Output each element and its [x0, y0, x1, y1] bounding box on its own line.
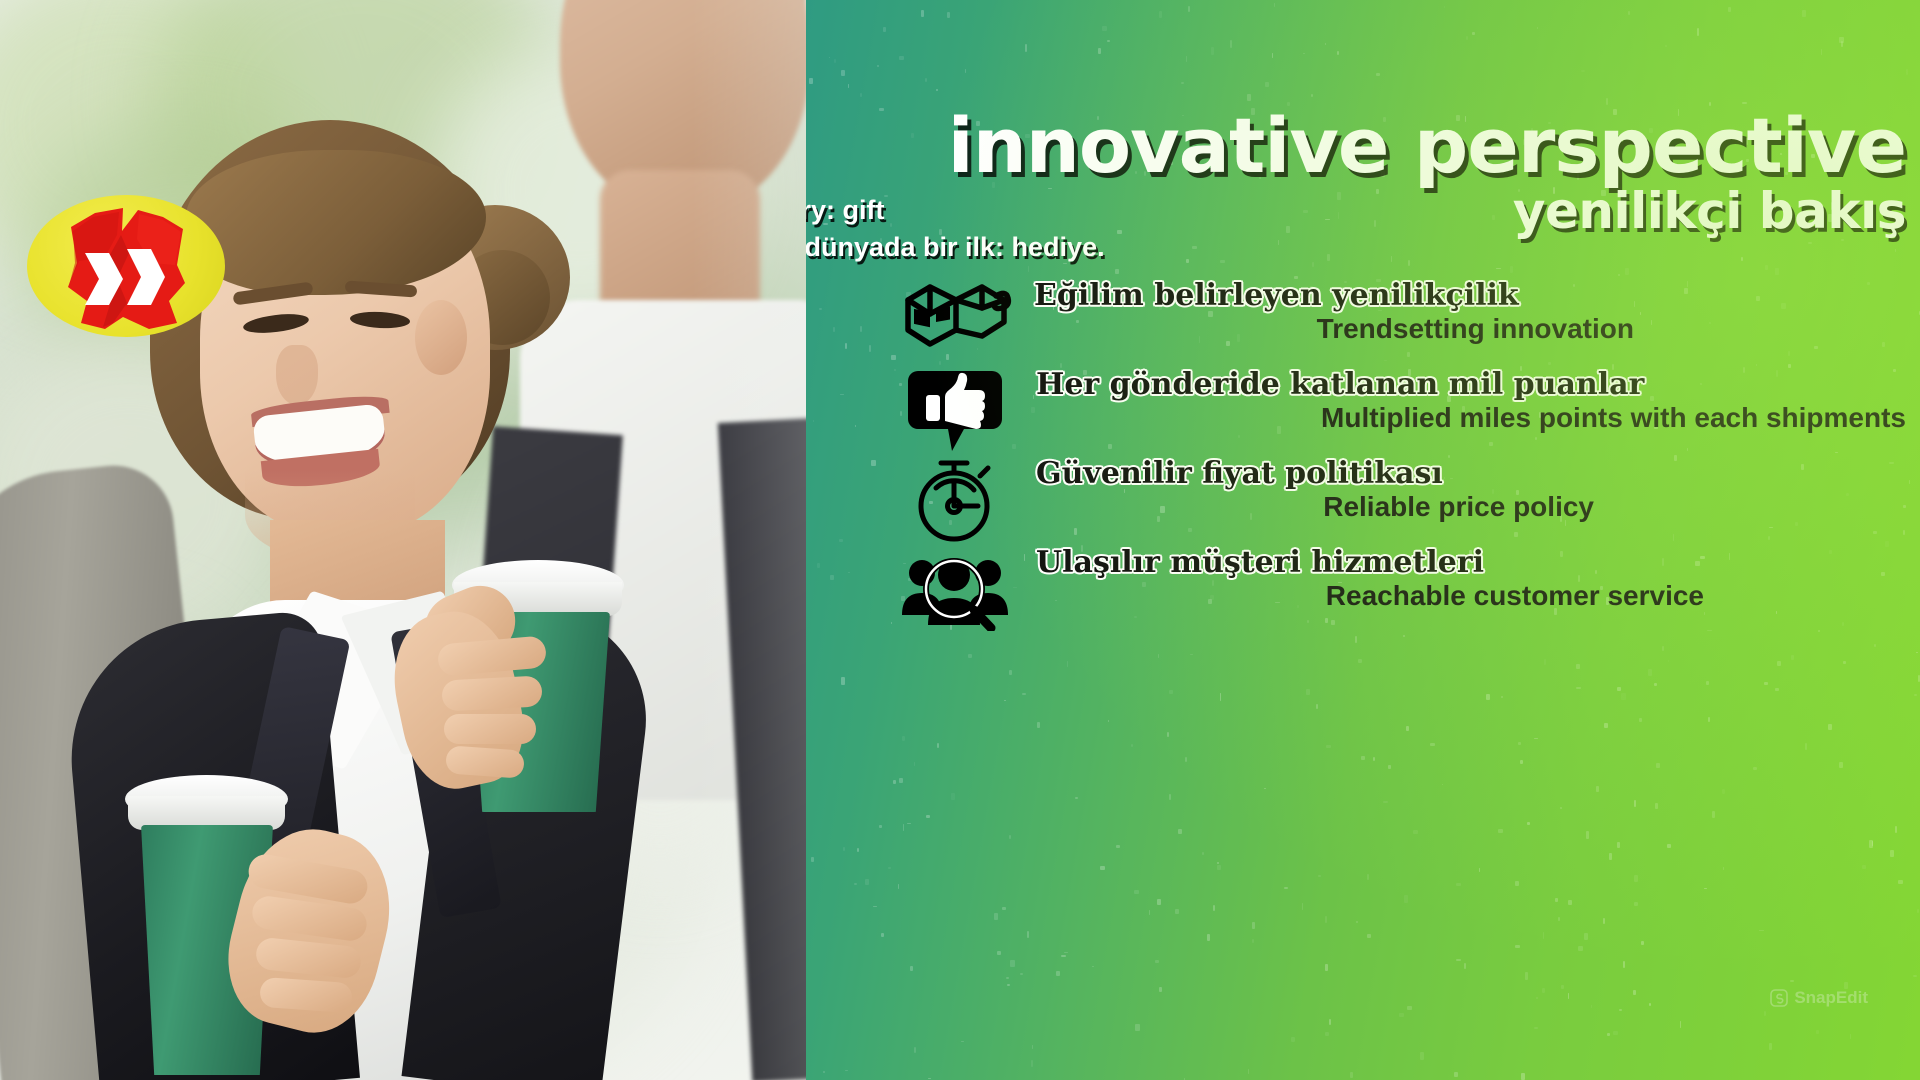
- feature-text: Her gönderide katlanan mil puanlar Multi…: [1026, 369, 1906, 434]
- feature-title-tr: Güvenilir fiyat politikası: [1026, 458, 1906, 490]
- thumbs-up-speech-bubble-icon: [896, 367, 1014, 453]
- feature-title-en: Reliable price policy: [1026, 491, 1906, 523]
- photo-panel: [0, 0, 812, 1080]
- feature-title-en: Trendsetting innovation: [1026, 313, 1906, 345]
- headline-en: innovative perspective: [806, 108, 1906, 184]
- feature-item[interactable]: Güvenilir fiyat politikası Reliable pric…: [896, 456, 1906, 545]
- texture-speckles: [806, 0, 1920, 1080]
- woman-finger: [441, 675, 542, 711]
- feature-title-tr: Her gönderide katlanan mil puanlar: [1026, 369, 1906, 401]
- woman-nose: [276, 345, 318, 405]
- brand-logo[interactable]: [27, 195, 225, 337]
- feature-text: Güvenilir fiyat politikası Reliable pric…: [1026, 458, 1906, 523]
- watermark-label: SnapEdit: [1794, 988, 1868, 1008]
- feature-title-tr: Ulaşılır müşteri hizmetleri: [1026, 547, 1906, 579]
- feature-title-en: Reachable customer service: [1026, 580, 1906, 612]
- feature-item[interactable]: Eğilim belirleyen yenilikçilik Trendsett…: [896, 278, 1906, 367]
- photo-edge-fade: [692, 0, 812, 1080]
- feature-item[interactable]: Ulaşılır müşteri hizmetleri Reachable cu…: [896, 545, 1906, 634]
- snapedit-icon: [1770, 989, 1788, 1007]
- woman-finger: [445, 745, 525, 778]
- woman-finger: [444, 714, 536, 744]
- kicker-en: A world first in the industry: gift: [806, 195, 1596, 226]
- woman-ear: [415, 300, 467, 375]
- stopwatch-icon: [896, 456, 1014, 542]
- feature-item[interactable]: Her gönderide katlanan mil puanlar Multi…: [896, 367, 1906, 456]
- marketing-banner: innovative perspective yenilikçi bakış A…: [0, 0, 1920, 1080]
- coffee-cup-rim: [128, 796, 285, 830]
- headline-tr: yenilikçi bakış: [806, 186, 1906, 236]
- feature-title-tr: Eğilim belirleyen yenilikçilik: [1026, 280, 1906, 312]
- watermark: SnapEdit: [1770, 988, 1868, 1008]
- double-chevron-icon: [65, 205, 187, 330]
- 3d-glasses-icon: [896, 278, 1014, 364]
- feature-text: Eğilim belirleyen yenilikçilik Trendsett…: [1026, 280, 1906, 345]
- woman-finger: [259, 977, 353, 1013]
- feature-title-en: Multiplied miles points with each shipme…: [1026, 402, 1906, 434]
- feature-list: Eğilim belirleyen yenilikçilik Trendsett…: [896, 278, 1906, 634]
- content-panel: innovative perspective yenilikçi bakış A…: [806, 0, 1920, 1080]
- kicker-tr: Endüstride dünyada bir ilk: hediye.: [806, 232, 1776, 263]
- people-search-icon: [896, 545, 1014, 631]
- feature-text: Ulaşılır müşteri hizmetleri Reachable cu…: [1026, 547, 1906, 612]
